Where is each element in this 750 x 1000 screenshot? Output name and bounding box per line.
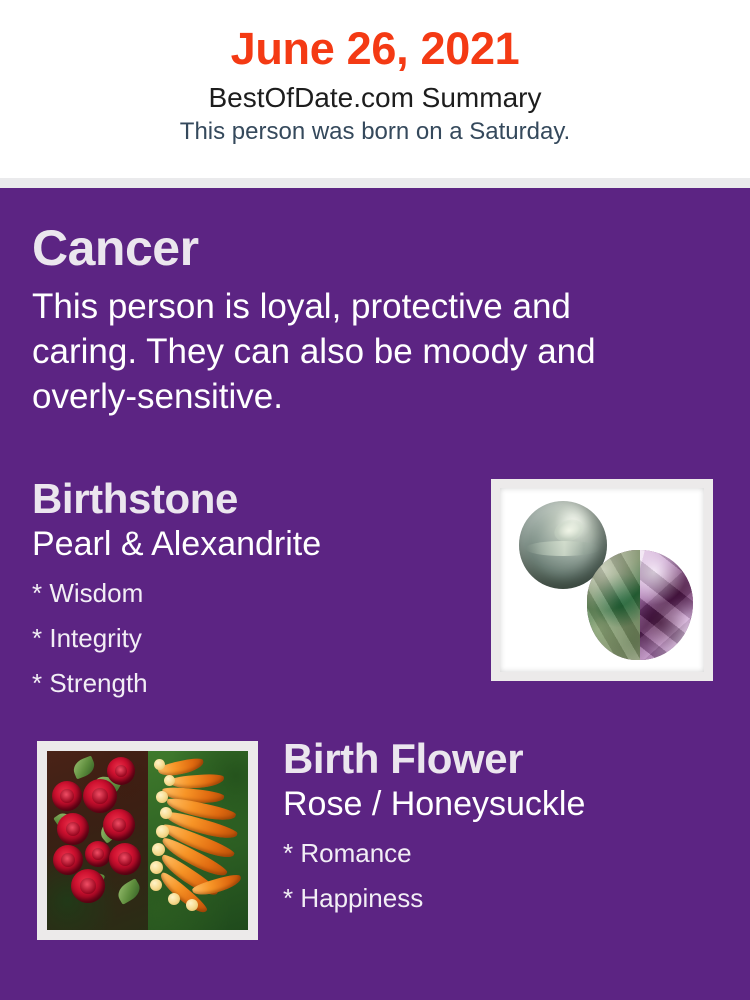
list-item: * Wisdom [32, 571, 472, 616]
honeysuckle-bud-icon [164, 775, 175, 786]
birth-flower-trait-list: * Romance * Happiness [283, 824, 713, 921]
honeysuckle-photo-half [148, 751, 249, 930]
zodiac-description: This person is loyal, protective and car… [32, 276, 672, 419]
rose-icon [52, 781, 82, 811]
honeysuckle-bud-icon [186, 899, 198, 911]
birthstone-section: Birthstone Pearl & Alexandrite * Wisdom … [32, 475, 472, 706]
rose-icon [71, 869, 105, 903]
honeysuckle-bud-icon [156, 825, 169, 838]
rose-icon [57, 813, 89, 845]
page-title-date: June 26, 2021 [0, 0, 750, 75]
rose-icon [107, 757, 135, 785]
rose-icon [109, 843, 141, 875]
rose-icon [103, 809, 135, 841]
roses-photo-half [47, 751, 148, 930]
birth-weekday-note: This person was born on a Saturday. [0, 115, 750, 147]
list-item: * Strength [32, 661, 472, 706]
list-item: * Happiness [283, 876, 713, 921]
honeysuckle-bud-icon [156, 791, 168, 803]
rose-icon [83, 779, 117, 813]
leaf-icon [71, 755, 98, 779]
birth-flower-heading: Birth Flower [283, 735, 713, 783]
birthstone-names: Pearl & Alexandrite [32, 523, 472, 564]
zodiac-sign-name: Cancer [32, 220, 672, 276]
rose-icon [85, 841, 111, 867]
summary-card: June 26, 2021 BestOfDate.com Summary Thi… [0, 0, 750, 1000]
birthstone-trait-list: * Wisdom * Integrity * Strength [32, 564, 472, 706]
honeysuckle-bud-icon [160, 807, 172, 819]
birth-flower-photo [47, 751, 248, 930]
honeysuckle-bud-icon [168, 893, 180, 905]
birthstone-photo [500, 488, 704, 672]
alexandrite-gem-icon [587, 550, 693, 660]
honeysuckle-bud-icon [150, 879, 162, 891]
list-item: * Integrity [32, 616, 472, 661]
header-divider [0, 178, 750, 188]
birthstone-heading: Birthstone [32, 475, 472, 523]
birth-flower-names: Rose / Honeysuckle [283, 783, 713, 824]
honeysuckle-bud-icon [152, 843, 165, 856]
site-summary-subtitle: BestOfDate.com Summary [0, 75, 750, 115]
list-item: * Romance [283, 831, 713, 876]
birth-flower-section: Birth Flower Rose / Honeysuckle * Romanc… [283, 735, 713, 921]
honeysuckle-bud-icon [150, 861, 163, 874]
alexandrite-faceted-half [640, 550, 693, 660]
alexandrite-rough-half [587, 550, 640, 660]
honeysuckle-bud-icon [154, 759, 165, 770]
zodiac-section: Cancer This person is loyal, protective … [32, 220, 672, 419]
leaf-icon [114, 878, 143, 905]
page-header: June 26, 2021 BestOfDate.com Summary Thi… [0, 0, 750, 178]
